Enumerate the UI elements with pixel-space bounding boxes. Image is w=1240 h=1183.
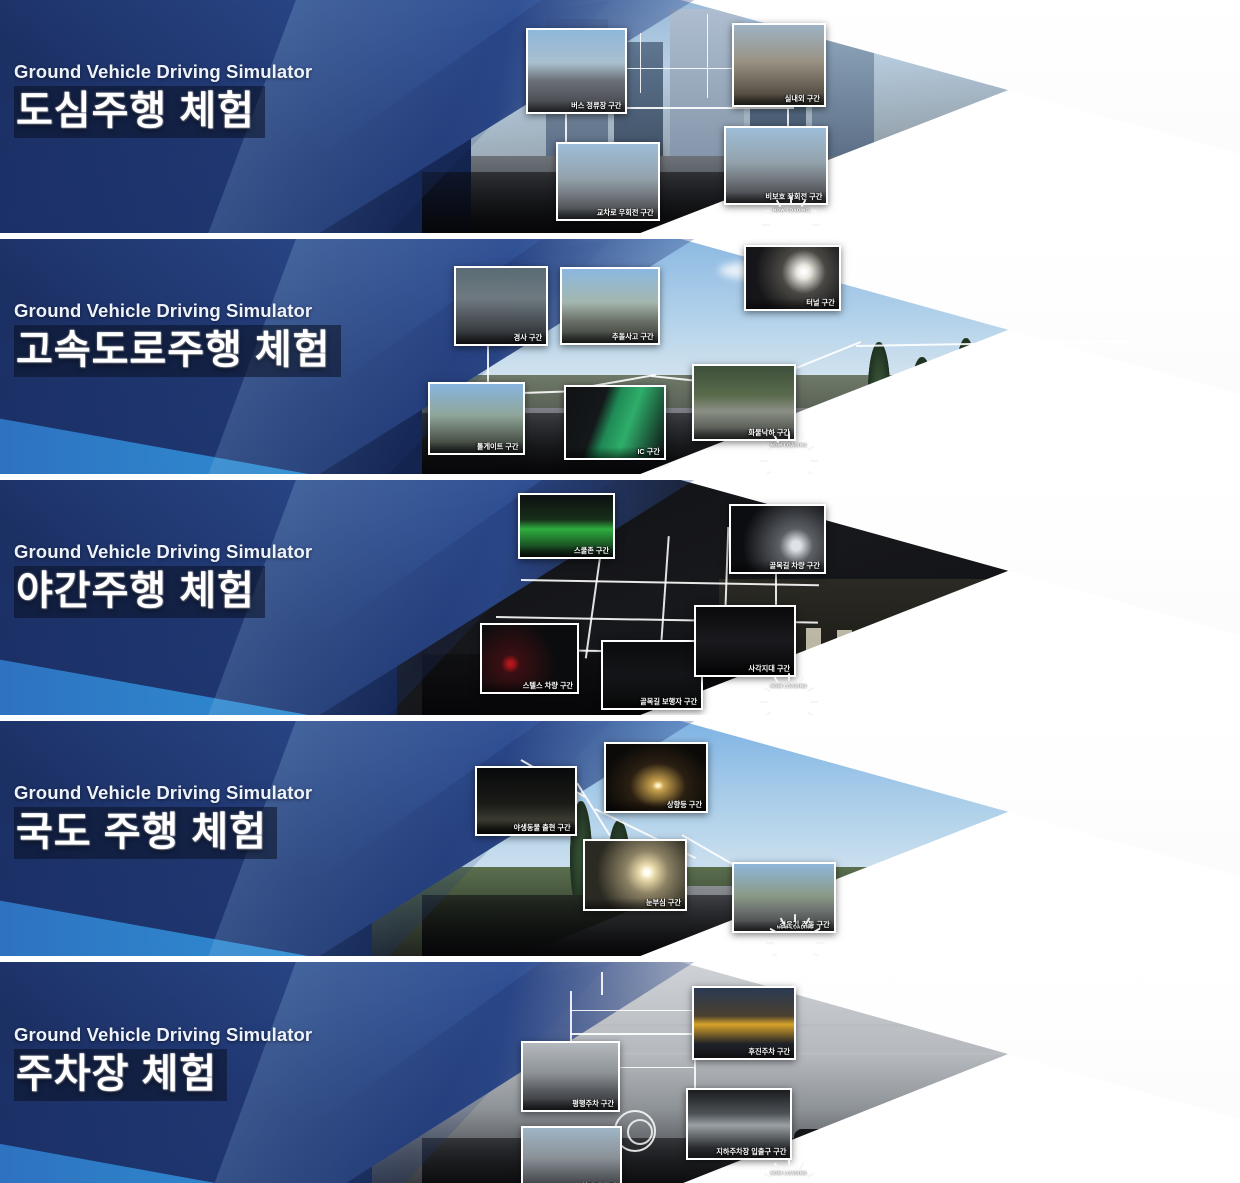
thumbnail-caption: 실내외 구간 [734, 94, 824, 105]
loading-label: NOW LOADING [770, 684, 807, 689]
thumbnail-card[interactable]: 톨게이트 구간 [428, 382, 525, 455]
title-band: 야간주행 체험 [14, 566, 265, 618]
panel-parking-lot[interactable]: Ground Vehicle Driving Simulator 주차장 체험 … [0, 962, 1240, 1183]
thumbnail-card[interactable]: IC 구간 [564, 385, 666, 460]
title-band: 도심주행 체험 [14, 86, 265, 138]
thumbnail-caption: 터널 구간 [746, 298, 839, 309]
title-band: 고속도로주행 체험 [14, 325, 341, 377]
thumbnail-card[interactable]: 골목길 차량 구간 [729, 504, 826, 575]
now-loading-spinner: NOW LOADING [769, 666, 809, 706]
title-block-highway: Ground Vehicle Driving Simulator 고속도로주행 … [0, 300, 570, 377]
thumbnail-caption: 골목길 차량 구간 [731, 561, 824, 572]
thumbnail-card[interactable]: 차단기 구간 [521, 1126, 623, 1183]
thumbnail-caption: 후진주차 구간 [694, 1047, 794, 1058]
connector-line [707, 14, 709, 98]
schematic-line [570, 1033, 694, 1035]
thumbnail-card[interactable]: 스텔스 차량 구간 [480, 623, 579, 694]
title-block-national-road: Ground Vehicle Driving Simulator 국도 주행 체… [0, 782, 570, 859]
title-block-parking: Ground Vehicle Driving Simulator 주차장 체험 [0, 1024, 570, 1101]
now-loading-spinner: NOW LOADING [771, 189, 811, 229]
thumbnail-card[interactable]: 골목길 보행자 구간 [601, 640, 703, 711]
connector-line [640, 33, 642, 94]
loading-label: NOW LOADING [770, 1171, 807, 1176]
title-band: 국도 주행 체험 [14, 807, 277, 859]
thumbnail-caption: IC 구간 [566, 447, 664, 458]
schematic-line [570, 1010, 694, 1012]
now-loading-spinner: NOW LOADING [775, 907, 815, 947]
thumbnail-image [734, 25, 824, 105]
thumbnail-card[interactable]: 추돌사고 구간 [560, 267, 659, 345]
thumbnail-caption: 톨게이트 구간 [430, 442, 523, 453]
eyebrow-text: Ground Vehicle Driving Simulator [14, 300, 570, 322]
now-loading-spinner: NOW LOADING [769, 1152, 809, 1183]
panel-night-driving[interactable]: Ground Vehicle Driving Simulator 야간주행 체험… [0, 480, 1240, 715]
loading-label: NOW LOADING [773, 207, 810, 212]
panel-national-road-driving[interactable]: Ground Vehicle Driving Simulator 국도 주행 체… [0, 721, 1240, 956]
page-title: 고속도로주행 체험 [16, 327, 331, 373]
thumbnail-card[interactable]: 교차로 우회전 구간 [556, 142, 660, 221]
page-title: 국도 주행 체험 [16, 809, 267, 855]
page-title: 도심주행 체험 [16, 88, 255, 134]
thumbnail-card[interactable]: 상향등 구간 [604, 742, 708, 813]
eyebrow-text: Ground Vehicle Driving Simulator [14, 1024, 570, 1046]
simulator-banner-stack: Ground Vehicle Driving Simulator 도심주행 체험… [0, 0, 1240, 1183]
now-loading-spinner: NOW LOADING [769, 425, 809, 465]
thumbnail-caption: 교차로 우회전 구간 [558, 208, 658, 219]
eyebrow-text: Ground Vehicle Driving Simulator [14, 782, 570, 804]
schematic-line [601, 972, 603, 996]
thumbnail-caption: 스텔스 차량 구간 [482, 681, 577, 692]
eyebrow-text: Ground Vehicle Driving Simulator [14, 61, 570, 83]
thumbnail-image [523, 1128, 621, 1183]
title-block-night: Ground Vehicle Driving Simulator 야간주행 체험 [0, 541, 570, 618]
title-block-urban: Ground Vehicle Driving Simulator 도심주행 체험 [0, 61, 570, 138]
panel-highway-driving[interactable]: Ground Vehicle Driving Simulator 고속도로주행 … [0, 239, 1240, 474]
thumbnail-card[interactable]: 후진주차 구간 [692, 986, 796, 1060]
thumbnail-card[interactable]: 터널 구간 [744, 245, 841, 311]
title-band: 주차장 체험 [14, 1049, 227, 1101]
panel-urban-driving[interactable]: Ground Vehicle Driving Simulator 도심주행 체험… [0, 0, 1240, 233]
thumbnail-card[interactable]: 지하주차장 입출구 구간 [686, 1088, 793, 1159]
thumbnail-caption: 상향등 구간 [606, 800, 706, 811]
page-title: 주차장 체험 [16, 1051, 217, 1097]
page-title: 야간주행 체험 [16, 568, 255, 614]
loading-label: NOW LOADING [770, 443, 807, 448]
thumbnail-caption: 눈부심 구간 [585, 898, 685, 909]
thumbnail-card[interactable]: 실내외 구간 [732, 23, 826, 107]
loading-label: NOW LOADING [777, 925, 814, 930]
thumbnail-caption: 골목길 보행자 구간 [603, 697, 701, 708]
thumbnail-caption: 추돌사고 구간 [562, 332, 657, 343]
eyebrow-text: Ground Vehicle Driving Simulator [14, 541, 570, 563]
thumbnail-card[interactable]: 눈부심 구간 [583, 839, 687, 912]
